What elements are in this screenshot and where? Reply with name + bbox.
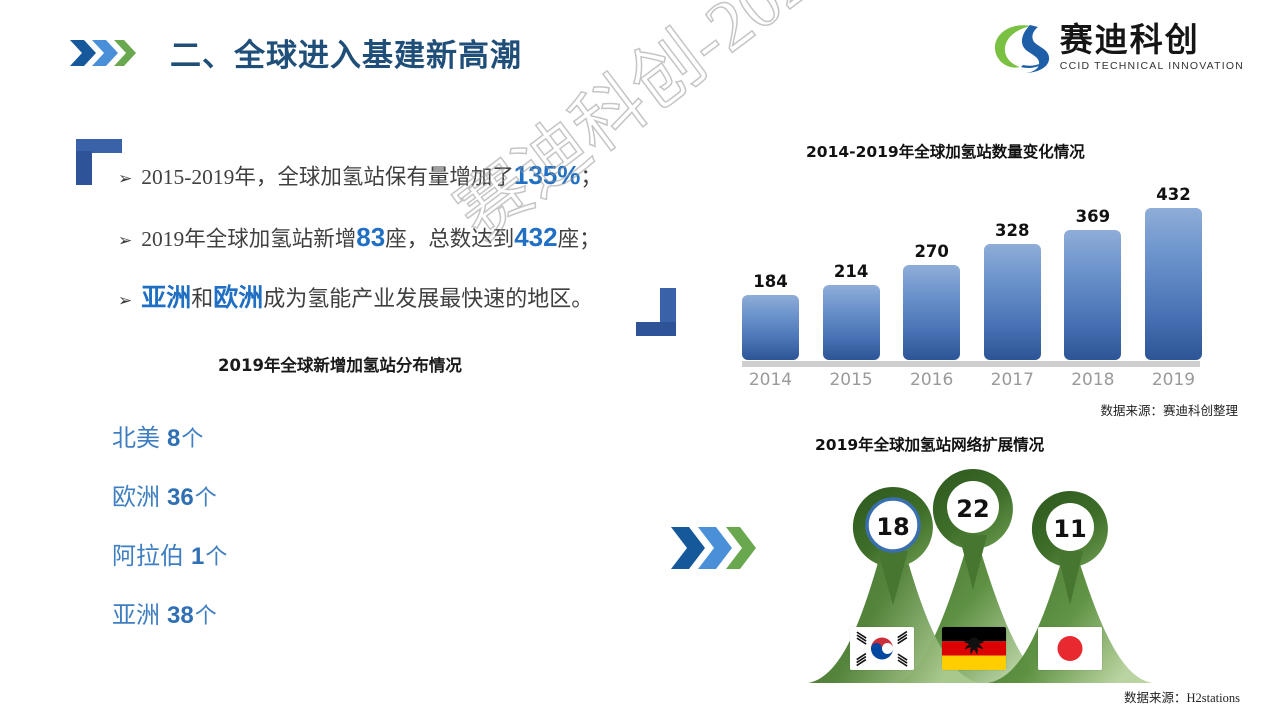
bullet-marker-icon: ➢ [118, 231, 132, 251]
bullet-text: 成为氢能产业发展最快速的地区。 [263, 286, 593, 311]
map-pin-south-korea [853, 487, 933, 605]
triple-chevron-right-icon [68, 38, 136, 68]
bar-x-label: 2014 [742, 370, 799, 390]
bar-x-label: 2018 [1064, 370, 1121, 390]
map-chart-source: 数据来源：H2stations [1124, 687, 1240, 706]
map-pin-value: 22 [953, 495, 993, 523]
list-item: 欧洲36个 [112, 477, 227, 512]
bar-x-label: 2016 [903, 370, 960, 390]
map-pin-germany [933, 469, 1013, 590]
bullet-highlight-number: 432 [514, 222, 557, 252]
map-pin-value: 18 [873, 513, 913, 541]
region-label: 阿拉伯 [112, 544, 184, 570]
bar-chart-x-axis-labels: 201420152016201720182019 [742, 370, 1202, 390]
region-count: 38 [167, 602, 194, 629]
bar-rect [1064, 230, 1121, 360]
bar-column: 432 [1145, 165, 1202, 360]
logo-text-en: CCID TECHNICAL INNOVATION [1060, 60, 1244, 72]
distribution-title: 2019年全球新增加氢站分布情况 [218, 352, 462, 376]
flag-south-korea-icon [850, 627, 914, 670]
logo-text-cn: 赛迪科创 [1060, 24, 1200, 59]
bar-chart-axis-line [742, 361, 1200, 367]
bar-rect [823, 285, 880, 360]
bar-value-label: 369 [1076, 207, 1110, 226]
bullet-marker-icon: ➢ [118, 169, 132, 189]
page-title: 二、全球进入基建新高潮 [170, 30, 522, 75]
list-item: 北美8个 [112, 418, 227, 453]
bar-chart-title: 2014-2019年全球加氢站数量变化情况 [806, 140, 1085, 162]
region-label: 北美 [112, 426, 160, 452]
corner-bracket-top-left [76, 139, 122, 185]
ccid-swirl-logo-icon [990, 22, 1052, 74]
bullet-marker-icon: ➢ [118, 291, 132, 311]
bar-chart-source: 数据来源：赛迪科创整理 [1100, 400, 1238, 419]
bar-x-label: 2017 [984, 370, 1041, 390]
bar-rect [1145, 208, 1202, 360]
bar-rect [742, 295, 799, 360]
bar-x-label: 2015 [823, 370, 880, 390]
bar-column: 328 [984, 165, 1041, 360]
region-label: 欧洲 [112, 485, 160, 511]
bullet-text: 座； [558, 227, 601, 251]
map-pin-japan [1032, 491, 1108, 605]
bullet-text: ； [580, 165, 602, 189]
bar-value-label: 328 [995, 221, 1029, 240]
flag-japan-icon [1038, 627, 1102, 670]
region-unit: 个 [195, 485, 217, 510]
bullet-text: 座，总数达到 [385, 227, 514, 251]
bar-value-label: 270 [914, 242, 948, 261]
bar-value-label: 214 [834, 262, 868, 281]
region-label: 亚洲 [112, 603, 160, 629]
region-count: 8 [167, 425, 180, 452]
slide-root: 二、全球进入基建新高潮 赛迪科创 CCID TECHNICAL INNOVATI… [0, 0, 1280, 720]
bar-rect [903, 265, 960, 360]
triple-chevron-right-icon [668, 523, 756, 573]
bullet-highlight-number: 83 [356, 222, 385, 252]
region-count: 1 [191, 543, 204, 570]
flag-germany-icon [942, 627, 1006, 670]
bar-value-label: 432 [1156, 185, 1190, 204]
distribution-list: 北美8个 欧洲36个 阿拉伯1个 亚洲38个 [112, 418, 227, 654]
bar-column: 214 [823, 165, 880, 360]
bar-x-label: 2019 [1145, 370, 1202, 390]
bullet-item: ➢ 亚洲和欧洲成为氢能产业发展最快速的地区。 [118, 284, 678, 314]
bar-chart-plot: 184214270328369432 [742, 165, 1202, 360]
bullet-item: ➢ 2019年全球加氢站新增83座，总数达到432座； [118, 222, 678, 253]
region-unit: 个 [195, 603, 217, 628]
bar-column: 270 [903, 165, 960, 360]
bullet-highlight-number: 135% [514, 160, 581, 190]
list-item: 亚洲38个 [112, 595, 227, 630]
bullet-highlight-region: 亚洲 [141, 285, 191, 312]
brand-logo: 赛迪科创 CCID TECHNICAL INNOVATION [990, 22, 1244, 74]
bullet-highlight-region: 欧洲 [213, 285, 263, 312]
region-unit: 个 [205, 544, 227, 569]
bullet-item: ➢ 2015-2019年，全球加氢站保有量增加了135%； [118, 160, 678, 191]
bar-column: 369 [1064, 165, 1121, 360]
bar-column: 184 [742, 165, 799, 360]
bar-rect [984, 244, 1041, 360]
map-chart-plot: 18 22 11 [790, 455, 1210, 685]
bullet-list: ➢ 2015-2019年，全球加氢站保有量增加了135%； ➢ 2019年全球加… [118, 160, 678, 345]
bullet-text: 2015-2019年，全球加氢站保有量增加了 [141, 165, 514, 189]
map-pin-value: 11 [1050, 515, 1090, 543]
map-chart-title: 2019年全球加氢站网络扩展情况 [815, 433, 1044, 455]
bullet-text: 2019年全球加氢站新增 [141, 227, 356, 251]
bar-value-label: 184 [753, 272, 787, 291]
region-unit: 个 [181, 426, 203, 451]
list-item: 阿拉伯1个 [112, 536, 227, 571]
region-count: 36 [167, 484, 194, 511]
bullet-text: 和 [191, 286, 213, 311]
